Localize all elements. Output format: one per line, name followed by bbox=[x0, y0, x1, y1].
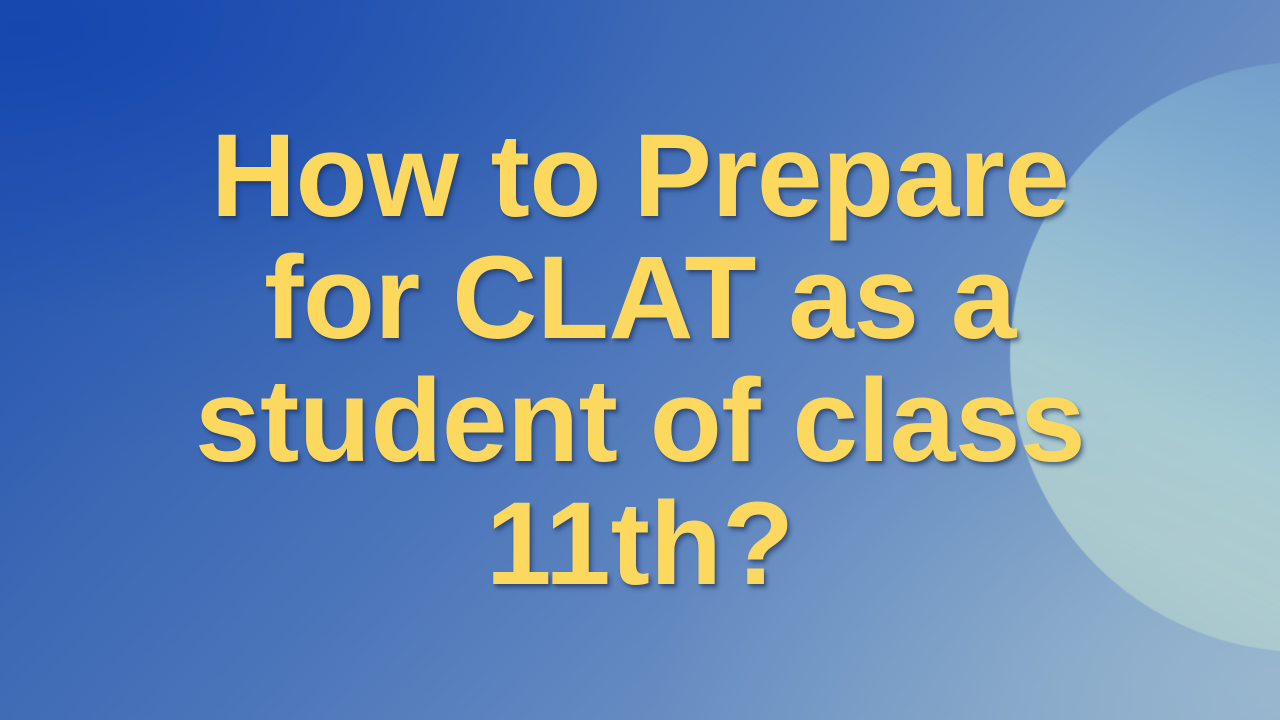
headline-line-3: student of class bbox=[195, 360, 1085, 483]
title-card: How to Prepare for CLAT as a student of … bbox=[0, 0, 1280, 720]
headline-line-4: 11th? bbox=[195, 483, 1085, 606]
headline-line-1: How to Prepare bbox=[195, 115, 1085, 238]
headline-line-2: for CLAT as a bbox=[195, 237, 1085, 360]
page-title: How to Prepare for CLAT as a student of … bbox=[195, 115, 1085, 606]
headline-container: How to Prepare for CLAT as a student of … bbox=[0, 0, 1280, 720]
